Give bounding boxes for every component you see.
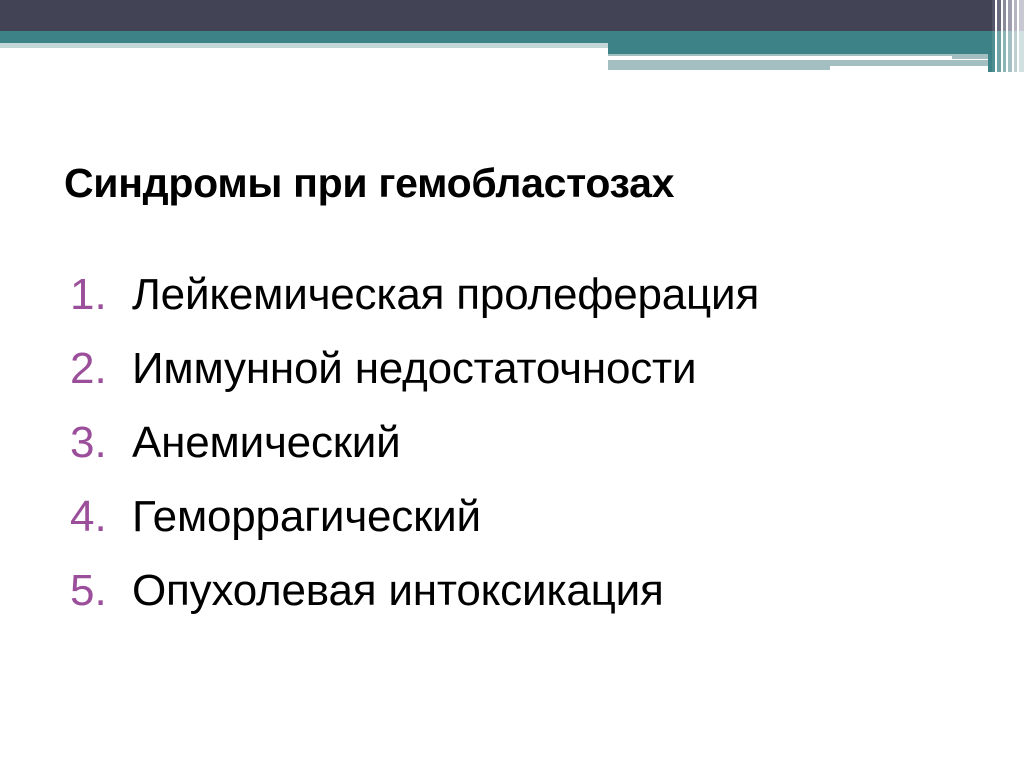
header-band-pale-left <box>0 43 608 48</box>
list-item: 4.Геморрагический <box>70 480 1000 554</box>
header-edge-stripe-lower <box>1019 31 1024 72</box>
list-item: 2.Иммунной недостаточности <box>70 332 1000 406</box>
list-item: 5.Опухолевая интоксикация <box>70 554 1000 628</box>
list-item-number: 1. <box>70 258 132 332</box>
list-item-number: 4. <box>70 480 132 554</box>
list-item: 1.Лейкемическая пролеферация <box>70 258 1000 332</box>
header-edge-stripes <box>988 0 1024 72</box>
list-item-label: Опухолевая интоксикация <box>132 554 664 628</box>
list-item-label: Лейкемическая пролеферация <box>132 258 759 332</box>
list-item-number: 2. <box>70 332 132 406</box>
presentation-slide: Синдромы при гемобластозах 1.Лейкемическ… <box>0 0 1024 767</box>
slide-bullet-list: 1.Лейкемическая пролеферация2.Иммунной н… <box>70 258 1000 628</box>
header-band-teal <box>0 31 1024 43</box>
list-item-label: Анемический <box>132 406 401 480</box>
header-band-teal-right <box>608 43 1024 54</box>
list-item-number: 3. <box>70 406 132 480</box>
header-band-dark <box>0 0 1024 31</box>
slide-title: Синдромы при гемобластозах <box>64 160 964 207</box>
list-item-label: Геморрагический <box>132 480 481 554</box>
list-item-number: 5. <box>70 554 132 628</box>
list-item-label: Иммунной недостаточности <box>132 332 696 406</box>
header-banner-decoration <box>0 0 1024 80</box>
list-item: 3.Анемический <box>70 406 1000 480</box>
